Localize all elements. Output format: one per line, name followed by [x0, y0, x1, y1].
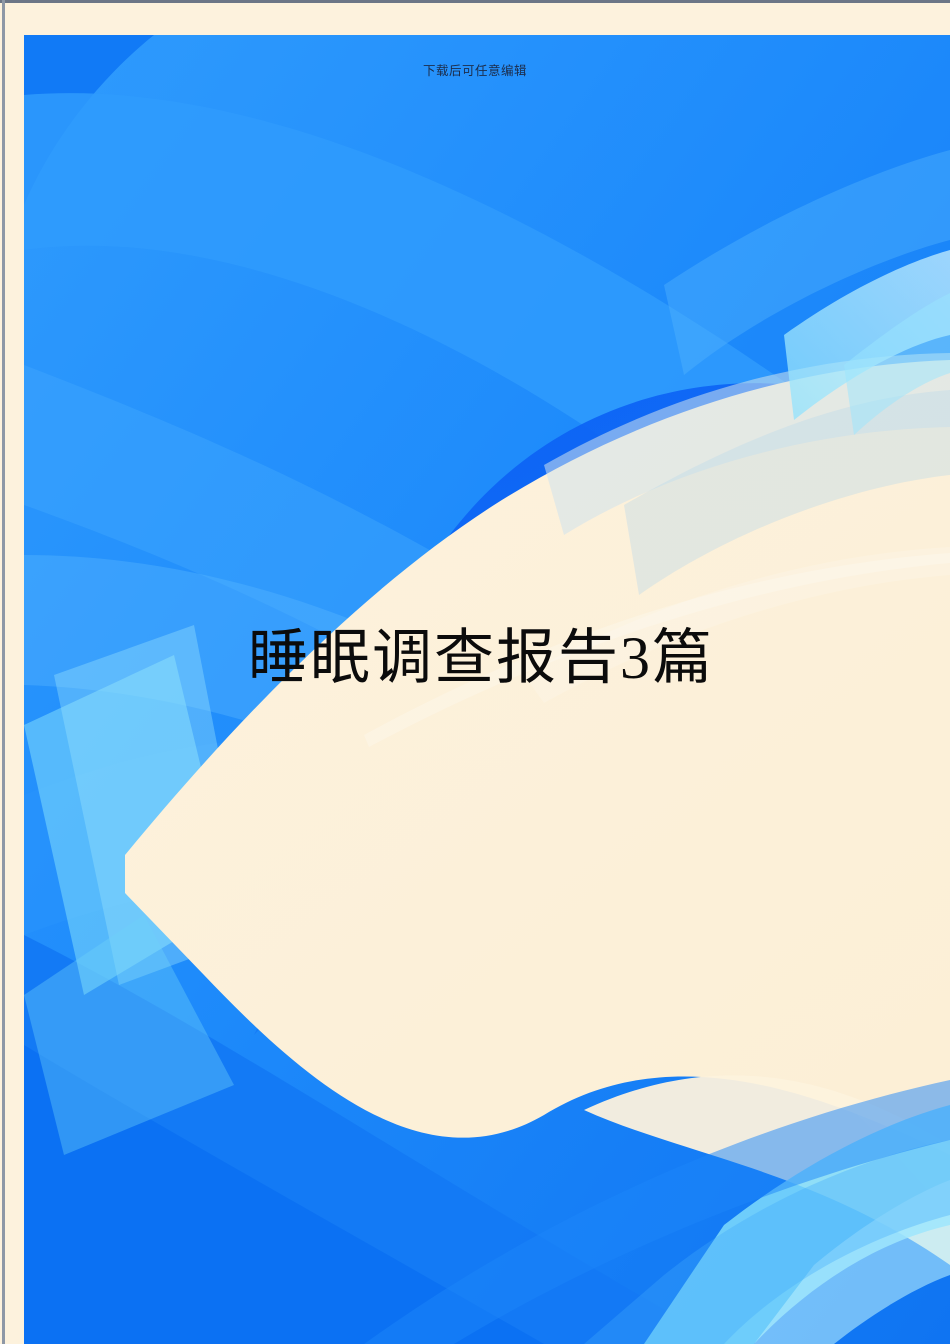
- page-title: 睡眠调查报告3篇: [248, 620, 714, 696]
- page-left-rule: [2, 0, 5, 1344]
- document-page: 下载后可任意编辑 睡眠调查报告3篇: [0, 0, 950, 1344]
- page-top-rule: [0, 0, 950, 3]
- download-note: 下载后可任意编辑: [0, 62, 950, 80]
